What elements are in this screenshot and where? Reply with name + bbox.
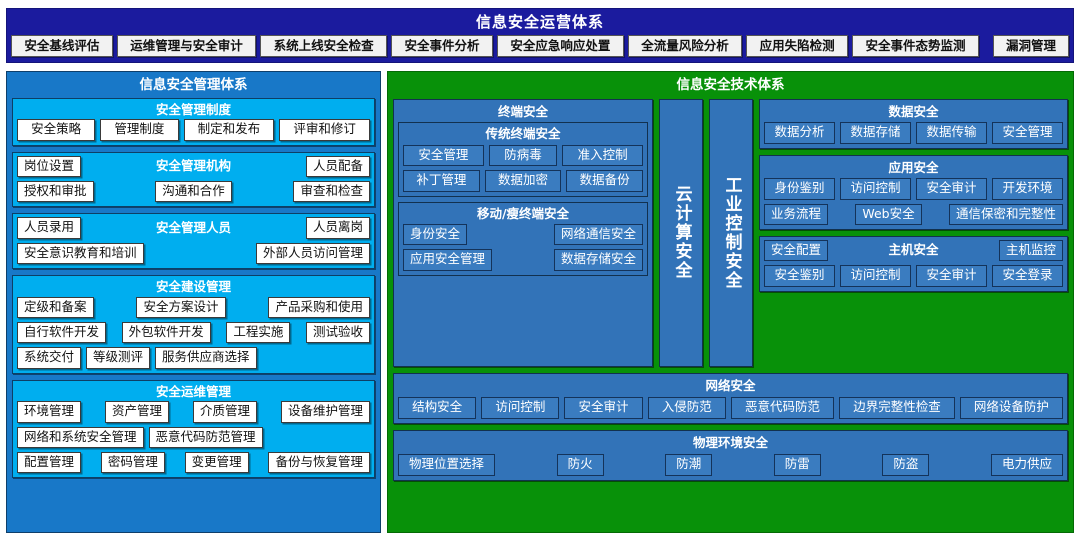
cell-security-audit[interactable]: 安全审计 [916,178,987,199]
cell-row: 物理位置选择 防火 防潮 防雷 防盗 电力供应 [398,454,1063,475]
cell-product-procurement[interactable]: 产品采购和使用 [268,297,370,318]
cell-fire-prevention[interactable]: 防火 [557,454,604,475]
cell-business-process[interactable]: 业务流程 [764,204,828,225]
cell-personnel-departure[interactable]: 人员离岗 [306,217,370,238]
cell-asset-management[interactable]: 资产管理 [105,401,169,422]
cell-structure-security[interactable]: 结构安全 [398,397,476,418]
section-header-row: 人员录用 安全管理人员 人员离岗 [17,217,370,238]
cell-media-management[interactable]: 介质管理 [193,401,257,422]
cell-security-authentication[interactable]: 安全鉴别 [764,265,835,286]
cell-security-management[interactable]: 安全管理 [403,145,484,166]
tab-event-situation-monitoring[interactable]: 安全事件态势监测 [852,35,979,58]
cell-patch-management[interactable]: 补丁管理 [403,170,480,191]
cell-review-inspection[interactable]: 审查和检查 [293,181,370,202]
cell-boundary-integrity-check[interactable]: 边界完整性检查 [839,397,955,418]
cell-row: 身份鉴别 访问控制 安全审计 开发环境 [764,178,1063,199]
cell-grading-filing[interactable]: 定级和备案 [17,297,94,318]
section-security-operation-management: 安全运维管理 环境管理 资产管理 介质管理 设备维护管理 网络和系统安全管理 恶… [12,380,375,479]
cell-post-setting[interactable]: 岗位设置 [17,156,81,177]
cell-data-storage-security[interactable]: 数据存储安全 [554,249,643,270]
section-security-management-policy: 安全管理制度 安全策略 管理制度 制定和发布 评审和修订 [12,98,375,146]
cell-equipment-maintenance[interactable]: 设备维护管理 [281,401,370,422]
section-title: 安全管理机构 [86,160,301,173]
cell-row: 补丁管理 数据加密 数据备份 [403,170,643,191]
subsection-mobile-thin-terminal-security: 移动/瘦终端安全 身份安全 网络通信安全 应用安全管理 数据存储安全 [398,202,648,276]
cell-web-security[interactable]: Web安全 [855,204,921,225]
cell-backup-recovery-management[interactable]: 备份与恢复管理 [268,452,370,473]
cell-antivirus[interactable]: 防病毒 [489,145,557,166]
cell-service-supplier-selection[interactable]: 服务供应商选择 [155,347,257,368]
subsection-traditional-terminal-security: 传统终端安全 安全管理 防病毒 准入控制 补丁管理 数据加密 数据备份 [398,122,648,196]
cell-security-strategy[interactable]: 安全策略 [17,119,95,140]
cell-review-revise[interactable]: 评审和修订 [279,119,370,140]
cell-security-management[interactable]: 安全管理 [992,122,1063,143]
box-physical-environment-security: 物理环境安全 物理位置选择 防火 防潮 防雷 防盗 电力供应 [393,430,1068,481]
cell-malicious-code-prevention-mgmt[interactable]: 恶意代码防范管理 [149,427,263,448]
cell-data-storage[interactable]: 数据存储 [840,122,911,143]
cell-communication-cooperation[interactable]: 沟通和合作 [155,181,232,202]
cell-grade-evaluation[interactable]: 等级测评 [86,347,150,368]
cell-row: 安全意识教育和培训 外部人员访问管理 [17,243,370,264]
technical-system-panel: 信息安全技术体系 终端安全 传统终端安全 安全管理 防病毒 准入控制 补丁管理 [387,71,1074,533]
cell-row: 数据分析 数据存储 数据传输 安全管理 [764,122,1063,143]
cell-test-acceptance[interactable]: 测试验收 [306,322,370,343]
cell-lightning-prevention[interactable]: 防雷 [774,454,821,475]
cell-engineering-implementation[interactable]: 工程实施 [226,322,290,343]
page-title: 信息安全运营体系 [9,11,1071,35]
cell-network-communication-security[interactable]: 网络通信安全 [554,224,643,245]
box-cloud-computing-security[interactable]: 云计算安全 [659,99,703,367]
cell-row: 安全策略 管理制度 制定和发布 评审和修订 [17,119,370,140]
cell-host-monitoring[interactable]: 主机监控 [999,240,1063,261]
tab-ops-management-audit[interactable]: 运维管理与安全审计 [117,35,256,58]
main-columns: 信息安全管理体系 安全管理制度 安全策略 管理制度 制定和发布 评审和修订 岗位… [6,71,1074,533]
cell-security-configuration[interactable]: 安全配置 [764,240,828,261]
cell-access-control[interactable]: 访问控制 [840,178,911,199]
cell-row: 自行软件开发 外包软件开发 工程实施 测试验收 [17,322,370,343]
cell-self-software-development[interactable]: 自行软件开发 [17,322,106,343]
cell-security-scheme-design[interactable]: 安全方案设计 [136,297,225,318]
cell-data-backup[interactable]: 数据备份 [566,170,643,191]
cell-password-management[interactable]: 密码管理 [101,452,165,473]
box-title: 主机安全 [833,244,994,257]
cell-data-analysis[interactable]: 数据分析 [764,122,835,143]
box-data-security: 数据安全 数据分析 数据存储 数据传输 安全管理 [759,99,1068,149]
operation-tab-row: 安全基线评估 运维管理与安全审计 系统上线安全检查 安全事件分析 安全应急响应处… [9,35,1071,60]
cell-access-control[interactable]: 准入控制 [562,145,643,166]
cell-access-control[interactable]: 访问控制 [840,265,911,286]
cell-data-encryption[interactable]: 数据加密 [485,170,562,191]
cell-application-security-management[interactable]: 应用安全管理 [403,249,492,270]
cell-row: 业务流程 Web安全 通信保密和完整性 [764,204,1063,225]
box-title: 云计算安全 [673,185,690,280]
technical-top-row: 终端安全 传统终端安全 安全管理 防病毒 准入控制 补丁管理 数据加密 数据备份 [393,99,1068,367]
cell-secure-login[interactable]: 安全登录 [992,265,1063,286]
cell-management-system[interactable]: 管理制度 [100,119,178,140]
section-security-construction-management: 安全建设管理 定级和备案 安全方案设计 产品采购和使用 自行软件开发 外包软件开… [12,275,375,374]
tab-security-event-analysis[interactable]: 安全事件分析 [391,35,493,58]
cell-security-audit[interactable]: 安全审计 [564,397,642,418]
cell-malicious-code-prevention[interactable]: 恶意代码防范 [731,397,834,418]
box-title: 终端安全 [398,103,648,123]
cell-row: 安全鉴别 访问控制 安全审计 安全登录 [764,265,1063,286]
cell-change-management[interactable]: 变更管理 [185,452,249,473]
subsection-title: 移动/瘦终端安全 [403,205,643,225]
cell-outsourced-software-development[interactable]: 外包软件开发 [122,322,211,343]
cell-communication-confidentiality-integrity[interactable]: 通信保密和完整性 [949,204,1063,225]
cell-identity-authentication[interactable]: 身份鉴别 [764,178,835,199]
management-system-title: 信息安全管理体系 [12,75,375,98]
cell-formulate-publish[interactable]: 制定和发布 [184,119,275,140]
box-title: 应用安全 [764,159,1063,179]
cell-authorization-approval[interactable]: 授权和审批 [17,181,94,202]
box-title: 数据安全 [764,103,1063,123]
management-system-panel: 信息安全管理体系 安全管理制度 安全策略 管理制度 制定和发布 评审和修订 岗位… [6,71,381,533]
cell-access-control[interactable]: 访问控制 [481,397,559,418]
box-title: 物理环境安全 [398,434,1063,454]
subsection-title: 传统终端安全 [403,125,643,145]
cell-system-delivery[interactable]: 系统交付 [17,347,81,368]
section-title: 安全运维管理 [17,384,370,402]
tab-emergency-response[interactable]: 安全应急响应处置 [497,35,624,58]
cell-staffing[interactable]: 人员配备 [306,156,370,177]
tab-full-traffic-risk-analysis[interactable]: 全流量风险分析 [628,35,742,58]
cell-row: 应用安全管理 数据存储安全 [403,249,643,270]
cell-theft-prevention[interactable]: 防盗 [882,454,929,475]
cell-data-transmission[interactable]: 数据传输 [916,122,987,143]
cell-personnel-recruitment[interactable]: 人员录用 [17,217,81,238]
tab-security-baseline-assessment[interactable]: 安全基线评估 [11,35,113,58]
cell-physical-location-selection[interactable]: 物理位置选择 [398,454,495,475]
cell-row: 定级和备案 安全方案设计 产品采购和使用 [17,297,370,318]
tab-system-launch-check[interactable]: 系统上线安全检查 [260,35,387,58]
cell-row: 身份安全 网络通信安全 [403,224,643,245]
section-header-row: 岗位设置 安全管理机构 人员配备 [17,156,370,177]
tab-vulnerability-management[interactable]: 漏洞管理 [993,35,1069,58]
box-industrial-control-security[interactable]: 工业控制安全 [709,99,753,367]
section-security-management-personnel: 人员录用 安全管理人员 人员离岗 安全意识教育和培训 外部人员访问管理 [12,213,375,269]
box-terminal-security: 终端安全 传统终端安全 安全管理 防病毒 准入控制 补丁管理 数据加密 数据备份 [393,99,653,367]
diagram-page: 信息安全运营体系 安全基线评估 运维管理与安全审计 系统上线安全检查 安全事件分… [0,8,1080,558]
technical-right-stack: 数据安全 数据分析 数据存储 数据传输 安全管理 应用安全 身份鉴别 访问控制 [759,99,1068,367]
cell-network-device-protection[interactable]: 网络设备防护 [960,397,1063,418]
cell-row: 安全管理 防病毒 准入控制 [403,145,643,166]
section-title: 安全建设管理 [17,279,370,297]
section-security-management-organization: 岗位设置 安全管理机构 人员配备 授权和审批 沟通和合作 审查和检查 [12,152,375,208]
cell-row: 系统交付 等级测评 服务供应商选择 [17,347,370,368]
cell-power-supply[interactable]: 电力供应 [991,454,1063,475]
cell-configuration-management[interactable]: 配置管理 [17,452,81,473]
section-title: 安全管理制度 [17,102,370,120]
technical-system-title: 信息安全技术体系 [393,75,1068,99]
cell-intrusion-prevention[interactable]: 入侵防范 [648,397,726,418]
cell-row: 网络和系统安全管理 恶意代码防范管理 [17,427,370,448]
tab-app-compromise-detection[interactable]: 应用失陷检测 [746,35,848,58]
box-host-security: 安全配置 主机安全 主机监控 安全鉴别 访问控制 安全审计 安全登录 [759,236,1068,292]
cell-row: 授权和审批 沟通和合作 审查和检查 [17,181,370,202]
cell-identity-security[interactable]: 身份安全 [403,224,467,245]
cell-environment-management[interactable]: 环境管理 [17,401,81,422]
section-title: 安全管理人员 [86,222,301,235]
cell-security-awareness-training[interactable]: 安全意识教育和培训 [17,243,144,264]
top-banner: 信息安全运营体系 安全基线评估 运维管理与安全审计 系统上线安全检查 安全事件分… [6,8,1074,63]
box-title: 工业控制安全 [723,176,740,290]
cell-moisture-prevention[interactable]: 防潮 [665,454,712,475]
cell-row: 结构安全 访问控制 安全审计 入侵防范 恶意代码防范 边界完整性检查 网络设备防… [398,397,1063,418]
cell-row: 环境管理 资产管理 介质管理 设备维护管理 [17,401,370,422]
box-application-security: 应用安全 身份鉴别 访问控制 安全审计 开发环境 业务流程 Web安全 通信保密… [759,155,1068,230]
cell-network-system-security-mgmt[interactable]: 网络和系统安全管理 [17,427,144,448]
cell-row: 配置管理 密码管理 变更管理 备份与恢复管理 [17,452,370,473]
box-header-row: 安全配置 主机安全 主机监控 [764,240,1063,261]
cell-external-personnel-access[interactable]: 外部人员访问管理 [256,243,370,264]
cell-security-audit[interactable]: 安全审计 [916,265,987,286]
cell-development-environment[interactable]: 开发环境 [992,178,1063,199]
box-title: 网络安全 [398,377,1063,397]
box-network-security: 网络安全 结构安全 访问控制 安全审计 入侵防范 恶意代码防范 边界完整性检查 … [393,373,1068,424]
